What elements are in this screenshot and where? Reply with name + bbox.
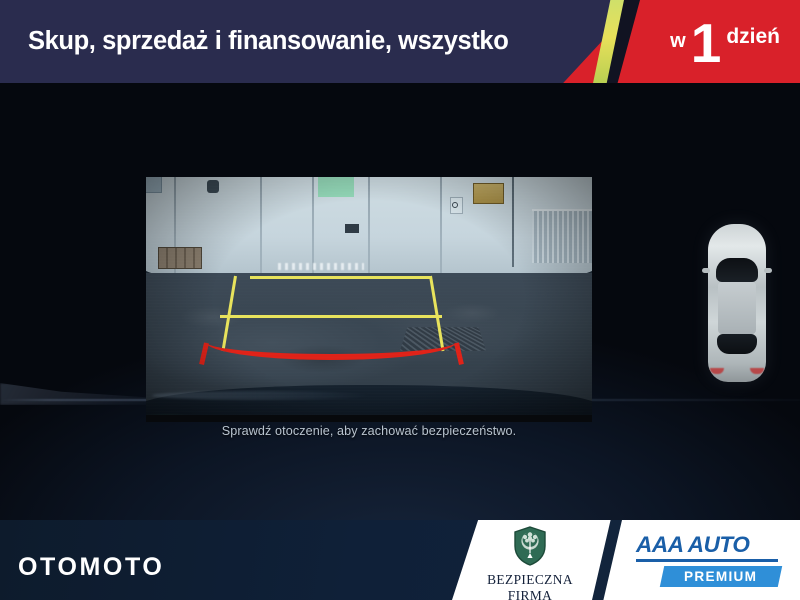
safe-company-title: BEZPIECZNA FIRMA — [470, 572, 590, 600]
bumper-gloss — [152, 391, 372, 400]
wall-door-edge — [512, 177, 514, 267]
wall-gauge-icon — [452, 202, 458, 208]
dealer-tier-label: PREMIUM — [684, 569, 757, 584]
footer-bar: OTOMOTO BEZPIECZNA FIRMA 2022 — [0, 520, 800, 600]
car-windshield — [716, 258, 758, 282]
wall-vent — [207, 180, 219, 193]
wall-outlet — [345, 224, 359, 233]
ground-debris — [278, 263, 364, 270]
vehicle-photo: Sprawdź otoczenie, aby zachować bezpiecz… — [0, 83, 800, 520]
shield-tree-icon — [513, 526, 547, 566]
banner-promo-group: w 1 dzień — [670, 0, 780, 83]
dealer-badge: AAA AUTO PREMIUM — [636, 534, 786, 587]
wall-railing — [532, 211, 592, 263]
dealer-underline — [636, 559, 778, 563]
screen-bottom-bezel — [146, 415, 592, 422]
car-rear-window — [717, 334, 757, 354]
rear-camera-screen — [146, 177, 592, 422]
otomoto-logo: OTOMOTO — [18, 553, 164, 582]
banner-headline: Skup, sprzedaż i finansowanie, wszystko — [28, 0, 508, 83]
wall-sign-plaque — [473, 183, 504, 204]
promo-prefix: w — [670, 30, 686, 53]
dealer-name: AAA AUTO — [636, 534, 786, 557]
car-mirror-left — [702, 268, 710, 273]
listing-photo-page: Skup, sprzedaż i finansowanie, wszystko … — [0, 0, 800, 600]
guideline-mid-marker — [220, 315, 442, 318]
promo-number: 1 — [691, 16, 722, 71]
wall-green-panel — [318, 177, 354, 197]
stacked-crates — [158, 247, 202, 269]
promo-banner: Skup, sprzedaż i finansowanie, wszystko … — [0, 0, 800, 83]
car-mirror-right — [764, 268, 772, 273]
car-roof — [718, 282, 756, 334]
wall-window — [146, 177, 162, 193]
promo-suffix: dzień — [726, 25, 780, 49]
dealer-tier-chip: PREMIUM — [660, 566, 782, 587]
guideline-far-edge — [250, 276, 430, 279]
camera-safety-caption: Sprawdź otoczenie, aby zachować bezpiecz… — [146, 424, 592, 438]
safe-company-badge: BEZPIECZNA FIRMA 2022 — [470, 526, 590, 600]
top-down-car-diagram — [690, 218, 782, 388]
